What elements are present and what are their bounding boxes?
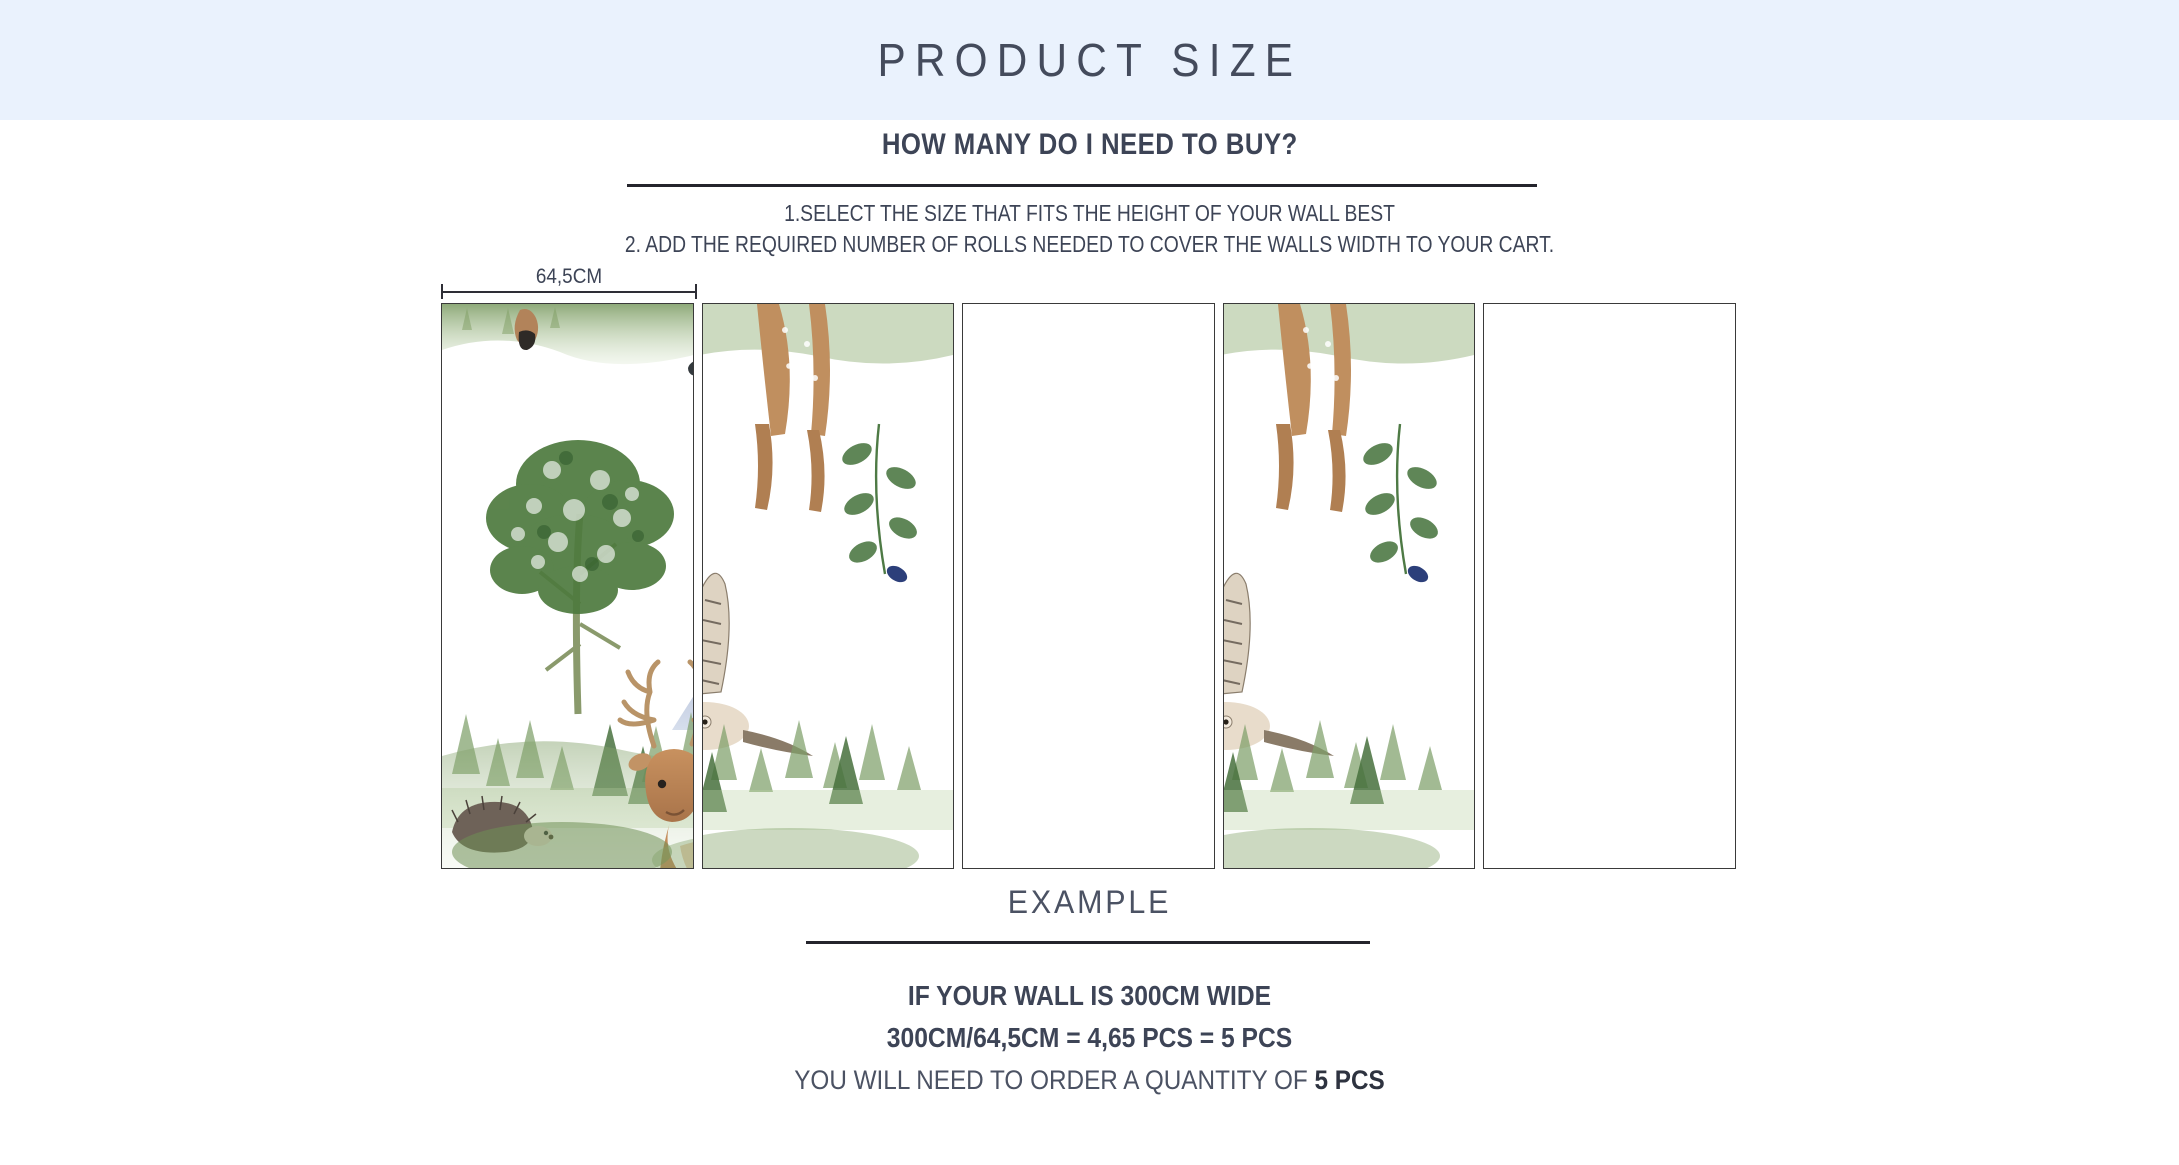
example-divider xyxy=(806,941,1370,944)
instruction-step-2: 2. ADD THE REQUIRED NUMBER OF ROLLS NEED… xyxy=(174,229,2004,260)
example-conclusion-value: 5 PCS xyxy=(1315,1065,1385,1095)
wallpaper-pattern-art xyxy=(1483,304,1484,868)
dimension-label: 64,5CM xyxy=(454,265,684,289)
wallpaper-panel[interactable] xyxy=(1223,303,1476,869)
subheading: HOW MANY DO I NEED TO BUY? xyxy=(882,128,1298,162)
wallpaper-panel[interactable] xyxy=(962,303,1215,869)
wallpaper-pattern-art xyxy=(962,304,963,868)
page-title: PRODUCT SIZE xyxy=(877,33,1302,87)
example-title: EXAMPLE xyxy=(54,884,2124,921)
dimension-tick-left xyxy=(441,284,443,299)
example-conclusion: YOU WILL NEED TO ORDER A QUANTITY OF 5 P… xyxy=(109,1065,2070,1096)
wallpaper-pattern-art xyxy=(1223,304,1476,868)
wallpaper-panel[interactable] xyxy=(1483,303,1736,869)
instruction-steps: 1.SELECT THE SIZE THAT FITS THE HEIGHT O… xyxy=(0,198,2179,260)
example-line-1: IF YOUR WALL IS 300CM WIDE xyxy=(131,975,2049,1017)
wallpaper-panel[interactable] xyxy=(441,303,694,869)
instruction-step-1: 1.SELECT THE SIZE THAT FITS THE HEIGHT O… xyxy=(174,198,2004,229)
wallpaper-pattern-art xyxy=(702,304,955,868)
example-conclusion-prefix: YOU WILL NEED TO ORDER A QUANTITY OF xyxy=(794,1065,1314,1095)
dimension-tick-right xyxy=(695,284,697,299)
page-header-band: PRODUCT SIZE xyxy=(0,0,2179,120)
subheading-divider xyxy=(627,184,1537,187)
example-calculation: IF YOUR WALL IS 300CM WIDE 300CM/64,5CM … xyxy=(0,975,2179,1059)
wallpaper-pattern-art xyxy=(442,304,694,868)
dimension-line xyxy=(441,291,697,293)
wallpaper-panel-row xyxy=(441,303,1736,869)
subheading-wrap: HOW MANY DO I NEED TO BUY? xyxy=(0,128,2179,162)
wallpaper-panel[interactable] xyxy=(702,303,955,869)
example-line-2: 300CM/64,5CM = 4,65 PCS = 5 PCS xyxy=(131,1017,2049,1059)
